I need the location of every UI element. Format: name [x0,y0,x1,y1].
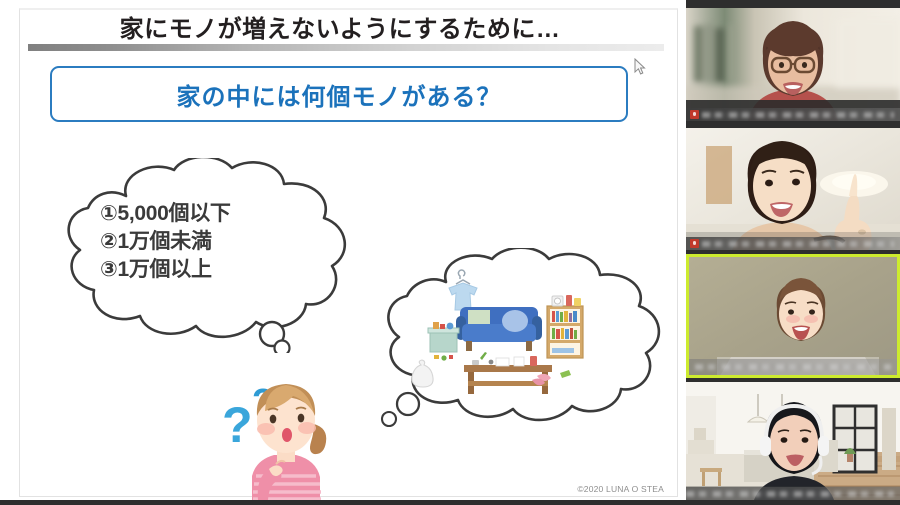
participant-name-bar-1 [686,108,900,121]
shared-slide: 家にモノが増えないようにするために… 家の中には何個モノがある？ ①5,000個… [0,0,686,500]
slide-title: 家にモノが増えないようにするために… [50,9,630,43]
participant-name-bar-2 [686,237,900,250]
participant-tile-3-active-speaker[interactable] [686,254,900,378]
participant-name-bar-3 [689,359,897,375]
cluttered-room-illustration [372,248,672,433]
participant-video-feed-3 [689,257,897,375]
participant-name-label-4 [686,491,894,497]
participant-name-bar-4 [686,487,900,500]
question-callout-box: 家の中には何個モノがある？ [50,66,628,122]
screen-share-meeting-window: 家にモノが増えないようにするために… 家の中には何個モノがある？ ①5,000個… [0,0,900,500]
option-item-1: ①5,000個以下 [100,200,330,228]
participant-tile-2[interactable] [686,128,900,250]
participant-tile-1[interactable] [686,8,900,121]
participant-video-strip [686,0,900,500]
participant-name-label-1 [702,112,894,118]
option-item-2: ②1万個未満 [100,228,330,256]
mouse-cursor [634,58,646,76]
mute-icon-2 [690,239,699,248]
participant-video-feed-1 [686,8,900,121]
thought-bubble-cluttered-room [372,248,672,433]
participant-tile-4[interactable] [686,382,900,500]
participant-video-feed-4 [686,382,900,500]
participant-video-feed-2 [686,128,900,250]
question-callout-text: 家の中には何個モノがある？ [177,77,502,112]
participant-name-label-3 [695,364,891,370]
options-list: ①5,000個以下 ②1万個未満 ③1万個以上 [100,200,330,284]
mute-icon-1 [690,110,699,119]
thought-bubble-options: ①5,000個以下 ②1万個未満 ③1万個以上 [56,158,356,353]
girl-thinking-illustration [222,372,352,500]
title-underline-rule [28,44,664,51]
copyright-notice: ©2020 LUNA O STEA [577,484,664,494]
participant-name-label-2 [702,241,894,247]
option-item-3: ③1万個以上 [100,256,330,284]
